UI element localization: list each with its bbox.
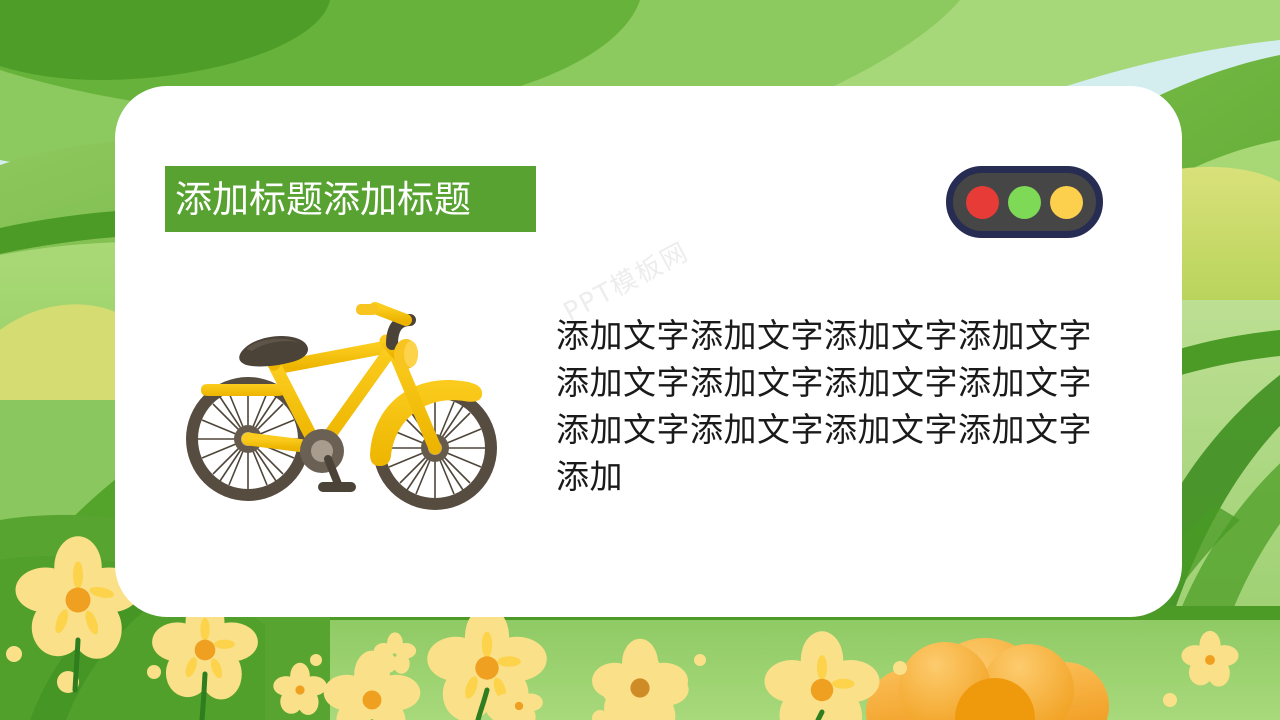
traffic-light-green-lamp: [1008, 186, 1041, 219]
page-title: 添加标题添加标题: [165, 181, 471, 218]
rear-rack: [201, 384, 285, 396]
traffic-light-icon: [946, 166, 1103, 238]
bicycle-icon: [170, 296, 515, 511]
traffic-light-yellow-lamp: [1050, 186, 1083, 219]
crank-set: [300, 429, 356, 492]
slide-canvas: 添加标题添加标题: [0, 0, 1280, 720]
traffic-light-red-lamp: [966, 186, 999, 219]
title-banner[interactable]: 添加标题添加标题: [165, 166, 536, 232]
body-text: 添加文字添加文字添加文字添加文字添加文字添加文字添加文字添加文字添加文字添加文字…: [556, 312, 1112, 500]
